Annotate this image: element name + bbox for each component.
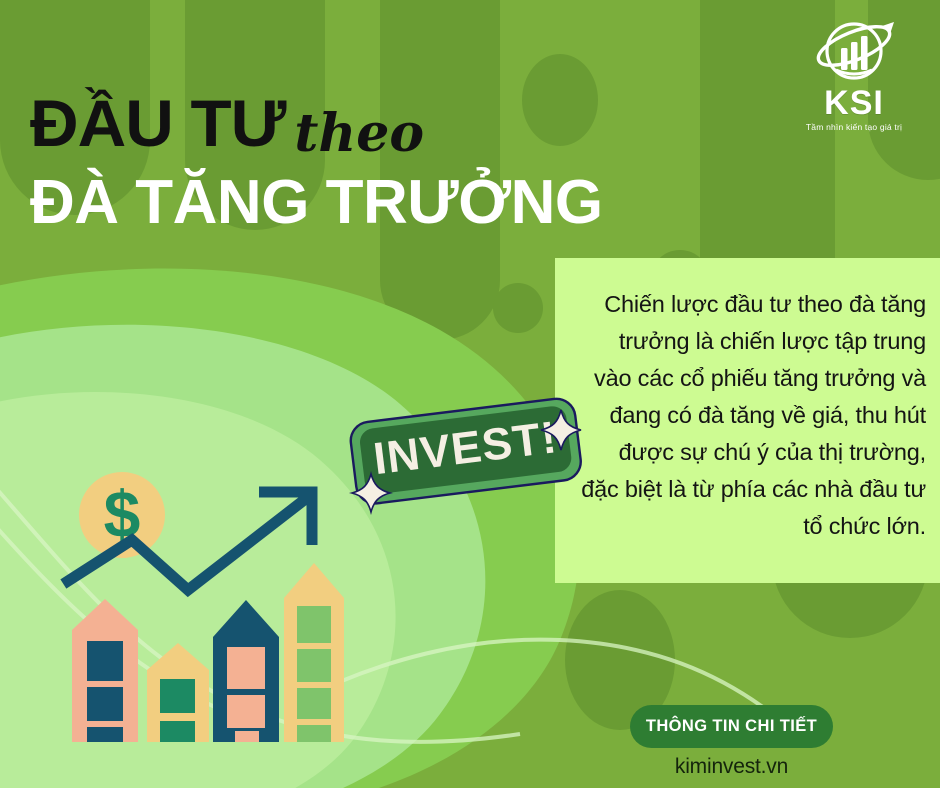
growth-chart-illustration: $	[50, 455, 350, 755]
description-panel: Chiến lược đầu tư theo đà tăng trưởng là…	[555, 258, 940, 583]
logo-tagline: Tầm nhìn kiến tạo giá trị	[794, 121, 914, 133]
poster-canvas: ĐẦU TƯ theo ĐÀ TĂNG TRƯỞNG KSI Tầm nh	[0, 0, 940, 788]
details-cta-button[interactable]: THÔNG TIN CHI TIẾT	[630, 705, 833, 748]
logo-wordmark: KSI	[794, 86, 914, 120]
bar-4	[284, 563, 344, 742]
description-text: Chiến lược đầu tư theo đà tăng trưởng là…	[577, 286, 926, 545]
ksi-orbit-barchart-icon	[808, 18, 900, 84]
invest-sticker[interactable]: INVEST!	[345, 388, 590, 518]
details-cta-label: THÔNG TIN CHI TIẾT	[646, 717, 817, 736]
bar-2	[147, 643, 209, 742]
bar-3	[213, 600, 279, 742]
website-url[interactable]: kiminvest.vn	[630, 755, 833, 779]
brand-logo: KSI Tầm nhìn kiến tạo giá trị	[794, 18, 914, 133]
bar-1	[72, 599, 138, 742]
